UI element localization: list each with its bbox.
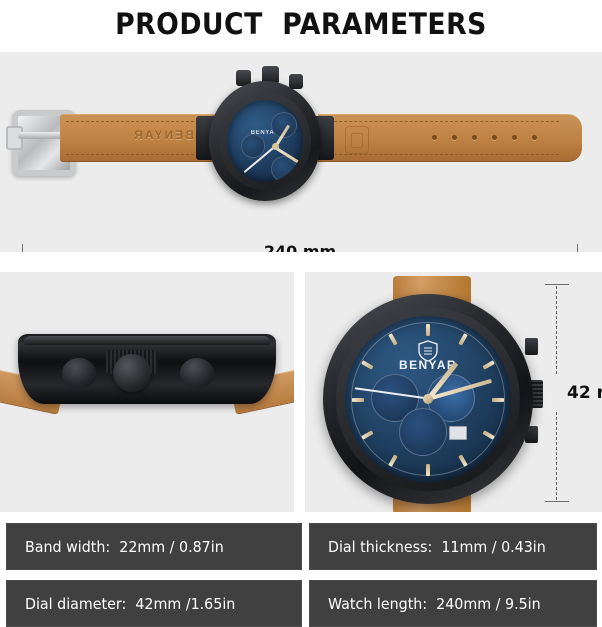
dial-index [492,398,504,402]
panel-watch-face: BENYAR 42 mm [305,272,602,512]
page-title-bar: PRODUCT PARAMETERS [0,0,602,48]
spec-bar-band-width: Band width: 22mm / 0.87in [6,523,302,570]
dial-date-window [449,426,467,440]
spec-bar-dial-thickness: Dial thickness: 11mm / 0.43in [309,523,597,570]
watch-dial: BENYAR [345,316,511,482]
panel-flat-lay-watch: BENYAR BENYAR [0,52,602,252]
watch-bezel: BENYAR [219,92,311,190]
dial-subdial-bottom [399,408,447,456]
spec-text: Band width: 22mm / 0.87in [25,538,224,556]
panel-side-profile: 11 mm [0,272,294,512]
dial-index [426,464,430,476]
watch-case-front-view: BENYAR [323,294,533,504]
strap-hole [452,135,457,140]
dimension-label-42mm: 42 mm [567,383,602,403]
dimension-endcap-top [545,284,569,285]
strap-hole [532,135,537,140]
watch-case-top-view: BENYAR [209,81,321,201]
dial-subdial [241,134,265,158]
watch-dial: BENYAR [227,100,303,182]
dial-index [352,398,364,402]
spec-bar-watch-length: Watch length: 240mm / 9.5in [309,580,597,627]
dimension-dashes-top [556,286,557,374]
dimension-dashes-bottom [556,412,557,500]
strap-stitching-bottom [324,154,564,155]
case-pusher-upper [62,358,96,388]
dimension-endcap-bottom [545,501,569,502]
spec-text: Dial diameter: 42mm /1.65in [25,595,235,613]
strap-logo-emboss [345,126,369,154]
spec-text: Dial thickness: 11mm / 0.43in [328,538,546,556]
case-top-edge [24,336,270,345]
dial-hand-pivot [272,143,279,150]
watch-bezel: BENYAR [336,307,520,491]
spec-text: Watch length: 240mm / 9.5in [328,595,541,613]
strap-stitching-top [324,121,564,122]
strap-hole [472,135,477,140]
strap-hole [512,135,517,140]
case-pusher-lower [180,358,214,388]
strap-brand-emboss: BENYAR [118,128,208,142]
dial-brand-text: BENYAR [345,358,511,372]
case-pusher [289,74,303,89]
strap-hole [432,135,437,140]
case-pusher-upper [525,338,538,355]
spec-bar-dial-diameter: Dial diameter: 42mm /1.65in [6,580,302,627]
dimension-label-240mm: 240 mm [22,242,578,252]
strap-tip [560,114,582,162]
page-title: PRODUCT PARAMETERS [115,7,487,41]
dimension-line-dial-diameter: 42 mm [545,282,602,504]
strap-hole [492,135,497,140]
dial-hand-pivot [423,394,433,404]
case-crown [113,354,151,392]
flat-lay-watch-image: BENYAR BENYAR [0,52,602,202]
dimension-line-watch-length: 240 mm [22,242,578,252]
dial-index [426,324,430,336]
